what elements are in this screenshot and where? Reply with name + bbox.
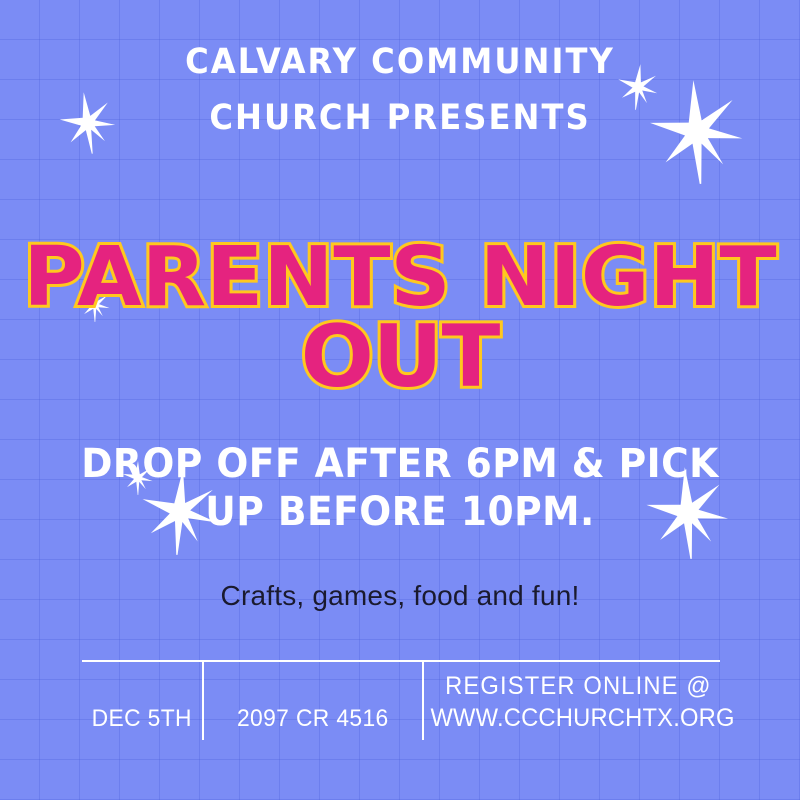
header-line-2: CHURCH PRESENTS bbox=[32, 90, 768, 146]
footer-register: REGISTER ONLINE @ WWW.CCCHURCHTX.ORG bbox=[430, 670, 713, 734]
poster-canvas: CALVARY COMMUNITY CHURCH PRESENTS PARENT… bbox=[0, 0, 800, 800]
footer-date-column: DEC 5TH bbox=[82, 662, 202, 740]
event-title-block: PARENTS NIGHT OUT bbox=[0, 236, 800, 400]
footer-register-column[interactable]: REGISTER ONLINE @ WWW.CCCHURCHTX.ORG bbox=[422, 662, 720, 740]
schedule-line-1: DROP OFF AFTER 6PM & PICK bbox=[24, 440, 776, 488]
tagline: Crafts, games, food and fun! bbox=[0, 580, 800, 612]
footer-register-url[interactable]: WWW.CCCHURCHTX.ORG bbox=[430, 702, 711, 734]
footer-address: 2097 CR 4516 bbox=[237, 704, 389, 734]
event-title-sub: OUT bbox=[0, 314, 800, 400]
footer-block: DEC 5TH 2097 CR 4516 REGISTER ONLINE @ W… bbox=[82, 660, 720, 750]
schedule-block: DROP OFF AFTER 6PM & PICK UP BEFORE 10PM… bbox=[0, 440, 800, 536]
header-line-1: CALVARY COMMUNITY bbox=[32, 34, 768, 90]
header-block: CALVARY COMMUNITY CHURCH PRESENTS bbox=[0, 34, 800, 146]
footer-date: DEC 5TH bbox=[92, 704, 192, 734]
footer-address-column: 2097 CR 4516 bbox=[202, 662, 422, 740]
schedule-line-2: UP BEFORE 10PM. bbox=[24, 488, 776, 536]
event-title-main: PARENTS NIGHT bbox=[0, 236, 800, 320]
footer-register-line-1: REGISTER ONLINE @ bbox=[430, 670, 711, 702]
footer-columns: DEC 5TH 2097 CR 4516 REGISTER ONLINE @ W… bbox=[82, 662, 720, 740]
